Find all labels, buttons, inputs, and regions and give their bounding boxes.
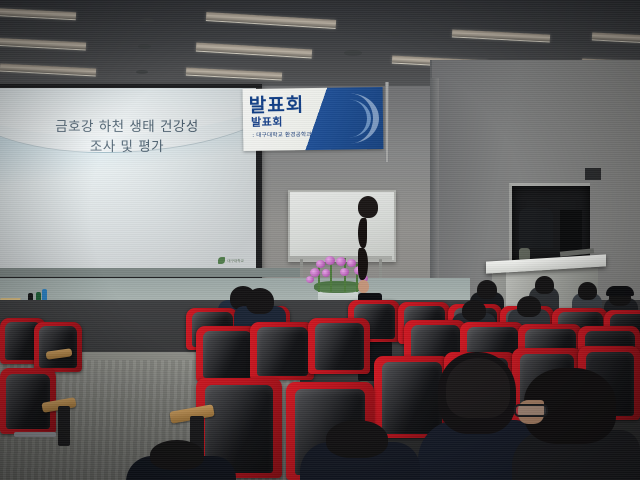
attendee-head	[150, 440, 204, 470]
orchid-bloom	[306, 276, 314, 283]
seat-armrest-post	[58, 406, 70, 446]
ceiling-vent	[390, 32, 400, 36]
attendee-head	[535, 276, 554, 294]
ceiling-vent	[136, 70, 148, 74]
ceiling-light	[0, 37, 86, 50]
presenter	[358, 196, 402, 308]
banner-pole	[385, 82, 389, 162]
orchid-bloom	[347, 259, 356, 267]
attendee-head	[517, 296, 541, 317]
ceiling-light	[0, 8, 76, 20]
ceiling-vent	[344, 50, 362, 56]
attendee-foreground	[126, 440, 236, 480]
banner-subheadline: 발표회	[251, 113, 283, 129]
attendee-head	[246, 288, 274, 314]
orchid-bloom	[336, 257, 346, 266]
slide-title-line1: 금호강 하천 생태 건강성	[0, 118, 256, 138]
university-logo-icon: 대구대학교	[218, 257, 244, 264]
attendee-head	[462, 300, 486, 321]
cap-icon	[606, 286, 634, 296]
orchid-bloom	[316, 260, 325, 268]
podium-speaker-body	[519, 208, 553, 248]
ceiling-vent	[140, 18, 154, 23]
ceiling-light	[592, 32, 640, 43]
attendee-foreground	[300, 420, 420, 480]
orchid-bloom	[322, 269, 330, 277]
seat-frame	[14, 432, 56, 437]
podium-speaker	[519, 208, 555, 262]
ceiling-light	[0, 63, 96, 76]
orchid-bloom	[340, 268, 349, 276]
ceiling-light	[206, 12, 336, 29]
wall-baseboard	[0, 268, 300, 277]
presenter-head	[358, 196, 378, 218]
slide-title: 금호강 하천 생태 건강성 조사 및 평가	[0, 118, 256, 157]
presenter-face	[358, 280, 369, 293]
ceiling-light	[196, 42, 312, 58]
auditorium-photo: 금호강 하천 생태 건강성 조사 및 평가 대구대학교 발표회 발표회 : 대구…	[0, 0, 640, 480]
slide-title-line2: 조사 및 평가	[0, 138, 256, 158]
presenter-hair	[358, 248, 368, 280]
glasses-icon	[514, 404, 548, 417]
presentation-slide: 금호강 하천 생태 건강성 조사 및 평가 대구대학교	[0, 88, 256, 273]
wall-corner	[430, 78, 439, 310]
ceiling-vent	[138, 44, 151, 49]
attendee-with-glasses	[512, 368, 640, 480]
logo-mark-icon	[218, 257, 225, 264]
ceiling-light	[186, 67, 282, 80]
projection-screen: 금호강 하천 생태 건강성 조사 및 평가 대구대학교	[0, 84, 262, 280]
ceiling-light	[452, 29, 550, 42]
attendee-head	[477, 280, 497, 299]
logo-text: 대구대학교	[227, 258, 244, 263]
banner-organization: : 대구대학교 환경공학과	[252, 130, 312, 139]
presenter-hair	[358, 218, 367, 248]
attendee-head	[578, 282, 597, 300]
attendee-head	[326, 420, 388, 458]
orchid-bloom	[325, 256, 335, 265]
event-banner: 발표회 발표회 : 대구대학교 환경공학과	[243, 87, 384, 151]
attendee-hair	[446, 358, 510, 418]
wall-speaker	[585, 168, 601, 180]
